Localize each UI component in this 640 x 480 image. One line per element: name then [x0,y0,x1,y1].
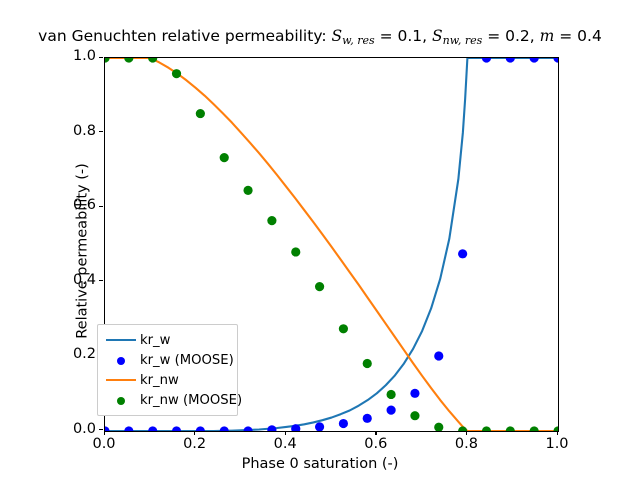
title-symbol-sw: S [332,27,343,45]
data-point [410,411,419,420]
xtick-label-1.0: 1.0 [517,436,597,452]
title-symbol-snw: S [432,27,443,45]
data-point [434,351,443,360]
legend-item-kr-w-moose: kr_w (MOOSE) [104,350,231,370]
data-point [363,414,372,423]
data-point [172,69,181,78]
legend-box: kr_w kr_w (MOOSE) kr_nw kr_nw (MOOSE) [97,324,238,416]
xtick-label-0.8: 0.8 [426,436,506,452]
data-point [196,109,205,118]
legend-line-icon-kr-w [104,330,138,350]
title-subscript-nwres: nw, res [443,34,483,47]
title-value-snw: = 0.2, [482,27,539,45]
xtick-label-0.6: 0.6 [336,436,416,452]
title-value-sw: = 0.1, [375,27,432,45]
data-point [105,426,110,431]
ytick-mark-1.0 [99,57,103,58]
y-axis-label: Relative permeability (-) [75,65,91,438]
ytick-mark-0.4 [99,280,103,281]
legend-label-kr-nw: kr_nw [138,373,179,388]
data-point [482,58,491,63]
ytick-mark-0.0 [99,429,103,430]
title-value-m: = 0.4 [554,27,602,45]
data-point [267,425,276,431]
legend-label-kr-nw-moose: kr_nw (MOOSE) [138,393,242,408]
data-point [482,426,491,431]
data-point [291,247,300,256]
title-prefix: van Genuchten relative permeability: [38,27,331,45]
legend-item-kr-nw: kr_nw [104,370,231,390]
data-point [530,426,539,431]
data-point [434,423,443,431]
legend-line-icon-kr-nw [104,370,138,390]
data-point [196,426,205,431]
data-point [339,324,348,333]
data-point [458,249,467,258]
legend-label-kr-w-moose: kr_w (MOOSE) [138,353,234,368]
data-point [387,406,396,415]
data-point [124,426,133,431]
chart-title: van Genuchten relative permeability: Sw,… [0,27,640,47]
data-point [339,419,348,428]
data-point [530,58,539,63]
data-point [553,426,558,431]
data-point [172,426,181,431]
xtick-label-0.4: 0.4 [245,436,325,452]
data-point [506,58,515,63]
x-axis-label: Phase 0 saturation (-) [0,456,640,472]
legend-item-kr-nw-moose: kr_nw (MOOSE) [104,390,231,410]
legend-marker-icon-kr-nw-moose [104,390,138,410]
data-point [148,426,157,431]
legend-label-kr-w: kr_w [138,333,170,348]
data-point [458,426,467,431]
data-point [410,389,419,398]
ytick-mark-0.8 [99,131,103,132]
chart-figure: van Genuchten relative permeability: Sw,… [0,0,640,480]
data-point [124,58,133,63]
xtick-label-0.2: 0.2 [155,436,235,452]
title-subscript-wres: w, res [342,34,375,47]
data-point [243,186,252,195]
legend-marker-icon-kr-w-moose [104,350,138,370]
data-point [553,58,558,63]
data-point [387,390,396,399]
data-point [315,282,324,291]
ytick-mark-0.6 [99,206,103,207]
data-point [220,153,229,162]
data-point [220,426,229,431]
data-point [506,426,515,431]
data-point [105,58,110,63]
data-point [243,426,252,431]
title-symbol-m: m [540,27,555,45]
xtick-label-0.0: 0.0 [64,436,144,452]
data-point [363,359,372,368]
data-point [267,216,276,225]
data-point [315,422,324,431]
ytick-label-1.0: 1.0 [0,48,96,64]
legend-item-kr-w: kr_w [104,330,231,350]
